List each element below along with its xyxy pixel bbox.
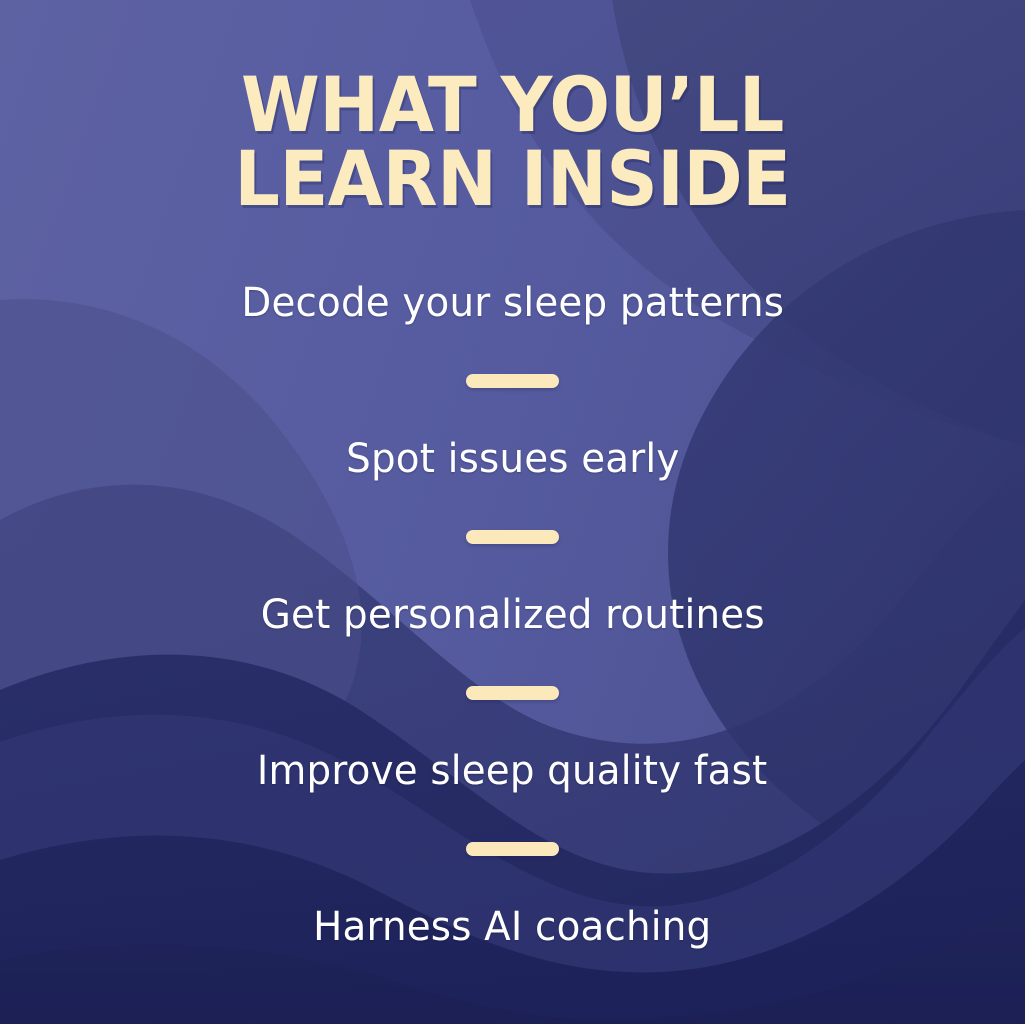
- page-title: WHAT YOU’LL LEARN INSIDE: [0, 70, 1025, 214]
- list-item: Harness AI coaching: [0, 886, 1025, 968]
- poster-canvas: WHAT YOU’LL LEARN INSIDE Decode your sle…: [0, 0, 1025, 1024]
- dash-divider-icon: [466, 842, 559, 856]
- title-line-1: WHAT YOU’LL: [68, 70, 956, 140]
- dash-divider-icon: [466, 686, 559, 700]
- list-item: Get personalized routines: [0, 574, 1025, 656]
- divider-row: [0, 812, 1025, 886]
- list-item: Decode your sleep patterns: [0, 262, 1025, 344]
- list-item-label-2: Spot issues early: [346, 438, 679, 480]
- dash-divider-icon: [466, 530, 559, 544]
- benefits-list: Decode your sleep patterns Spot issues e…: [0, 262, 1025, 968]
- divider-row: [0, 656, 1025, 730]
- poster-content: WHAT YOU’LL LEARN INSIDE Decode your sle…: [0, 0, 1025, 1024]
- list-item-label-1: Decode your sleep patterns: [241, 282, 784, 324]
- list-item: Spot issues early: [0, 418, 1025, 500]
- divider-row: [0, 344, 1025, 418]
- title-line-2: LEARN INSIDE: [68, 144, 956, 214]
- dash-divider-icon: [466, 374, 559, 388]
- list-item: Improve sleep quality fast: [0, 730, 1025, 812]
- list-item-label-4: Improve sleep quality fast: [257, 750, 768, 792]
- list-item-label-3: Get personalized routines: [261, 594, 765, 636]
- divider-row: [0, 500, 1025, 574]
- list-item-label-5: Harness AI coaching: [313, 906, 711, 948]
